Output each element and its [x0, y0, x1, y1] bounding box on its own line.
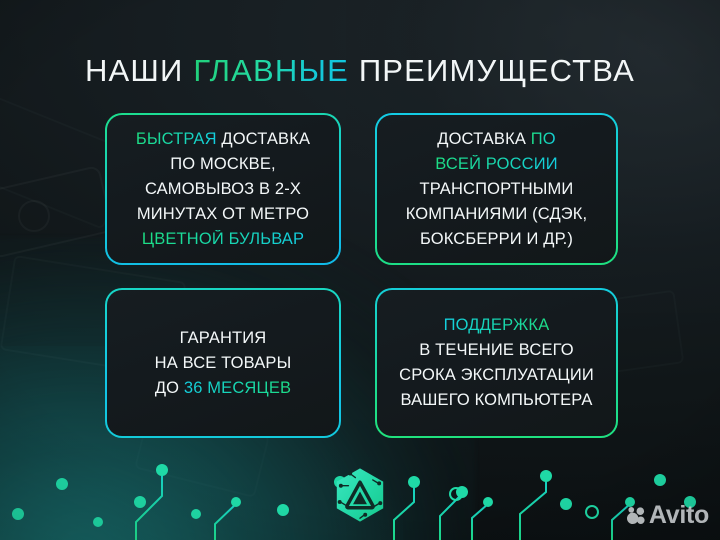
benefit-text-segment: ВАШЕГО КОМПЬЮТЕРА	[401, 391, 593, 409]
benefit-card-inner: БЫСТРАЯ ДОСТАВКАПО МОСКВЕ,САМОВЫВОЗ В 2-…	[107, 115, 339, 263]
benefit-card-grid: БЫСТРАЯ ДОСТАВКАПО МОСКВЕ,САМОВЫВОЗ В 2-…	[105, 113, 617, 438]
title-part-2: ПРЕИМУЩЕСТВА	[349, 53, 635, 88]
benefit-text-segment: ЦВЕТНОЙ БУЛЬВАР	[142, 230, 304, 248]
benefit-card-text: ДОСТАВКА ПОВСЕЙ РОССИИТРАНСПОРТНЫМИКОМПА…	[406, 127, 588, 252]
title-part-1: НАШИ	[85, 53, 193, 88]
benefit-text-segment: МИНУТАХ ОТ МЕТРО	[137, 205, 309, 223]
benefit-card-fast-delivery[interactable]: БЫСТРАЯ ДОСТАВКАПО МОСКВЕ,САМОВЫВОЗ В 2-…	[105, 113, 341, 265]
benefit-card-text: ПОДДЕРЖКАВ ТЕЧЕНИЕ ВСЕГОСРОКА ЭКСПЛУАТАЦ…	[399, 313, 594, 413]
promo-poster: НАШИ ГЛАВНЫЕ ПРЕИМУЩЕСТВА БЫСТРАЯ ДОСТАВ…	[0, 0, 720, 540]
benefit-text-segment: В ТЕЧЕНИЕ ВСЕГО	[419, 341, 574, 359]
benefit-text-segment: ДО	[155, 379, 184, 397]
benefit-text-segment: СРОКА ЭКСПЛУАТАЦИИ	[399, 366, 594, 384]
benefit-card-russia-delivery[interactable]: ДОСТАВКА ПОВСЕЙ РОССИИТРАНСПОРТНЫМИКОМПА…	[375, 113, 618, 265]
benefit-card-text: ГАРАНТИЯНА ВСЕ ТОВАРЫДО 36 МЕСЯЦЕВ	[155, 326, 292, 401]
hex-triangle-logo-icon	[331, 466, 389, 524]
page-title: НАШИ ГЛАВНЫЕ ПРЕИМУЩЕСТВА	[0, 52, 720, 90]
avito-dots-icon	[627, 506, 646, 525]
title-accent: ГЛАВНЫЕ	[193, 53, 349, 88]
benefit-text-segment: ТРАНСПОРТНЫМИ	[420, 180, 574, 198]
benefit-text-segment: 36 МЕСЯЦЕВ	[184, 379, 291, 397]
benefit-card-inner: ДОСТАВКА ПОВСЕЙ РОССИИТРАНСПОРТНЫМИКОМПА…	[377, 115, 616, 263]
benefit-text-segment: КОМПАНИЯМИ (СДЭК,	[406, 205, 588, 223]
avito-wordmark: Avito	[649, 503, 709, 528]
benefit-card-text: БЫСТРАЯ ДОСТАВКАПО МОСКВЕ,САМОВЫВОЗ В 2-…	[136, 127, 310, 252]
benefit-text-segment: ДОСТАВКА	[217, 130, 310, 148]
benefit-card-warranty[interactable]: ГАРАНТИЯНА ВСЕ ТОВАРЫДО 36 МЕСЯЦЕВ	[105, 288, 341, 438]
avito-watermark: Avito	[627, 503, 709, 528]
benefit-text-segment: ПО	[531, 130, 556, 148]
benefit-text-segment: ГАРАНТИЯ	[180, 329, 267, 347]
benefit-text-segment: ПО МОСКВЕ,	[170, 155, 275, 173]
benefit-text-segment: ПОДДЕРЖКА	[444, 316, 550, 334]
benefit-text-segment: ДОСТАВКА	[437, 130, 530, 148]
benefit-card-inner: ГАРАНТИЯНА ВСЕ ТОВАРЫДО 36 МЕСЯЦЕВ	[107, 290, 339, 436]
benefit-text-segment: НА ВСЕ ТОВАРЫ	[155, 354, 292, 372]
benefit-text-segment: ВСЕЙ РОССИИ	[435, 155, 558, 173]
benefit-text-segment: БЫСТРАЯ	[136, 130, 217, 148]
benefit-card-inner: ПОДДЕРЖКАВ ТЕЧЕНИЕ ВСЕГОСРОКА ЭКСПЛУАТАЦ…	[377, 290, 616, 436]
benefit-text-segment: САМОВЫВОЗ В 2-Х	[145, 180, 301, 198]
benefit-card-support[interactable]: ПОДДЕРЖКАВ ТЕЧЕНИЕ ВСЕГОСРОКА ЭКСПЛУАТАЦ…	[375, 288, 618, 438]
benefit-text-segment: БОКСБЕРРИ И ДР.)	[420, 230, 573, 248]
